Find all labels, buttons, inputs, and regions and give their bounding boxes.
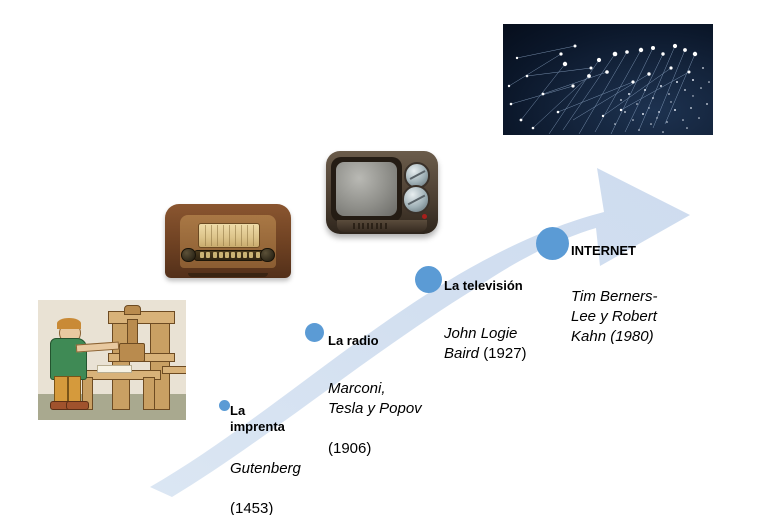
milestone-detail-radio: Marconi, Tesla y Popov (1906): [328, 359, 453, 459]
milestone-imprenta: La imprenta Gutenberg (1453): [230, 403, 325, 515]
milestone-radio: La radio Marconi, Tesla y Popov (1906): [328, 333, 453, 459]
milestone-detail-internet: Tim Berners- Lee y Robert Kahn (1980): [571, 267, 681, 347]
internet-globe-image: [503, 24, 713, 135]
milestone-dot-radio[interactable]: [305, 323, 324, 342]
printing-press-image: [38, 300, 186, 420]
milestone-year-radio: (1906): [328, 440, 371, 457]
milestone-title-imprenta: La imprenta: [230, 403, 325, 435]
milestone-dot-television[interactable]: [415, 266, 442, 293]
network-nodes-graphic: [503, 24, 713, 135]
milestone-inventor-internet: Tim Berners- Lee y Robert Kahn (1980): [571, 288, 658, 345]
milestone-year-imprenta: (1453): [230, 500, 273, 515]
retro-television-image: [318, 146, 446, 252]
milestone-dot-imprenta[interactable]: [219, 400, 230, 411]
milestone-detail-television: John Logie Baird (1927): [444, 304, 559, 364]
milestone-title-television: La televisión: [444, 278, 559, 294]
milestone-internet: INTERNET Tim Berners- Lee y Robert Kahn …: [571, 243, 681, 347]
vintage-radio-image: [160, 197, 296, 287]
milestone-dot-internet[interactable]: [536, 227, 569, 260]
milestone-title-radio: La radio: [328, 333, 453, 349]
timeline-diagram: La imprenta Gutenberg (1453) La radio Ma…: [0, 0, 766, 515]
milestone-title-internet: INTERNET: [571, 243, 681, 259]
milestone-inventor-radio: Marconi, Tesla y Popov: [328, 380, 422, 417]
milestone-inventor-imprenta: Gutenberg: [230, 460, 301, 477]
milestone-television: La televisión John Logie Baird (1927): [444, 278, 559, 364]
milestone-detail-imprenta: Gutenberg (1453): [230, 439, 325, 515]
milestone-year-television: (1927): [483, 345, 526, 362]
